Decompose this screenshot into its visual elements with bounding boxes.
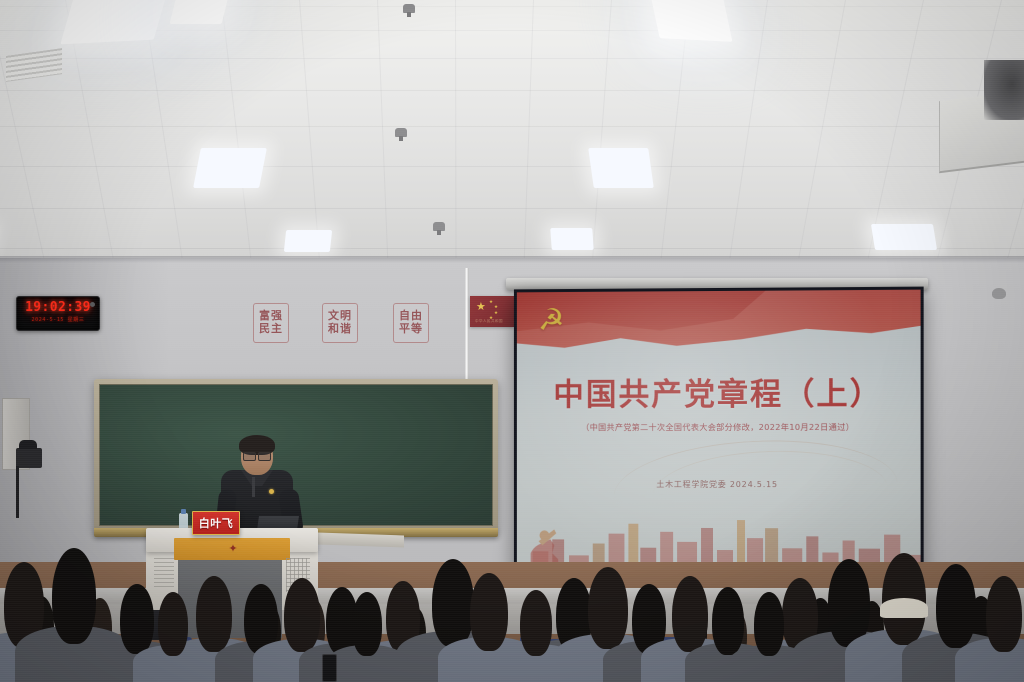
clock-indicator-led bbox=[90, 302, 95, 307]
clock-time: 19:02:39 bbox=[17, 300, 99, 315]
audience-head bbox=[52, 548, 96, 644]
sprinkler-nozzle-icon bbox=[395, 128, 407, 137]
ceiling-grid-line bbox=[0, 166, 1024, 167]
china-national-flag: ★ ★ ★ ★ ★ 中华人民共和国 bbox=[470, 296, 514, 327]
audience-head bbox=[712, 587, 744, 655]
audience-head bbox=[936, 564, 976, 648]
audience-head bbox=[284, 578, 320, 652]
flag-small-star-icon: ★ bbox=[489, 300, 493, 305]
presenter-placket bbox=[252, 477, 255, 497]
audience-head bbox=[470, 573, 508, 651]
audience-head bbox=[672, 576, 708, 652]
wall-telephone bbox=[16, 448, 42, 468]
ceiling-grid-line bbox=[794, 0, 845, 278]
glasses-icon bbox=[243, 452, 271, 459]
slogan-placard-3: 自由 平等 bbox=[393, 303, 429, 343]
suspended-ceiling bbox=[0, 0, 1024, 282]
audience-head bbox=[120, 584, 154, 654]
cpc-hammer-sickle-icon: ☭ bbox=[535, 306, 568, 336]
ceiling-grid-line bbox=[221, 0, 254, 280]
led-wall-clock: 19:02:39 2024-5-15 星期三 bbox=[16, 296, 100, 331]
audience-head bbox=[158, 592, 188, 656]
audience-cap bbox=[880, 598, 928, 618]
audience-head bbox=[754, 592, 784, 656]
placard-line-1: 富强 bbox=[259, 310, 283, 323]
audience-phone bbox=[322, 654, 337, 682]
ceiling-grid-line bbox=[455, 0, 457, 282]
ceiling-grid-line bbox=[0, 0, 48, 276]
slide-subtitle: （中国共产党第二十次全国代表大会部分修改，2022年10月22日通过） bbox=[517, 421, 921, 433]
placard-line-1: 自由 bbox=[399, 310, 423, 323]
slide-title: 中国共产党章程（上） bbox=[517, 378, 921, 411]
ceiling-tile-grid bbox=[0, 0, 1024, 282]
telephone-cord bbox=[16, 466, 19, 518]
audience-head bbox=[986, 576, 1022, 652]
audience-head bbox=[196, 576, 232, 652]
ceiling-cable-bundle bbox=[984, 60, 1024, 120]
audience-head bbox=[352, 592, 382, 656]
slogan-placard-2: 文明 和谐 bbox=[322, 303, 358, 343]
presentation-slide: ☭ 中国共产党章程（上） （中国共产党第二十次全国代表大会部分修改，2022年1… bbox=[517, 290, 921, 606]
school-crest-icon: ✦ bbox=[226, 544, 240, 556]
placard-line-2: 民主 bbox=[259, 323, 283, 336]
audience-head bbox=[432, 559, 474, 647]
placard-line-2: 和谐 bbox=[328, 323, 352, 336]
security-camera bbox=[992, 288, 1006, 299]
ceiling-panel-light bbox=[283, 230, 331, 252]
ceiling-grid-line bbox=[590, 0, 612, 281]
slogan-placard-1: 富强 民主 bbox=[253, 303, 289, 343]
ceiling-panel-light bbox=[588, 148, 654, 188]
ceiling-grid-line bbox=[0, 126, 1024, 127]
pull-down-projection-screen[interactable]: ☭ 中国共产党章程（上） （中国共产党第二十次全国代表大会部分修改，2022年1… bbox=[514, 287, 924, 609]
ceiling-grid-line bbox=[726, 0, 768, 279]
placard-line-2: 平等 bbox=[399, 323, 423, 336]
flag-big-star-icon: ★ bbox=[476, 302, 486, 313]
flag-caption: 中华人民共和国 bbox=[475, 319, 503, 324]
telephone-handset-icon bbox=[19, 440, 37, 449]
sprinkler-nozzle-icon bbox=[433, 222, 445, 231]
ceiling-panel-light bbox=[871, 224, 937, 250]
ceiling-grid-line bbox=[0, 90, 1024, 91]
audience-head bbox=[588, 567, 628, 649]
ceiling-panel-light bbox=[649, 0, 732, 42]
placard-line-1: 文明 bbox=[328, 310, 352, 323]
flag-small-star-icon: ★ bbox=[494, 311, 498, 316]
party-emblem-pin bbox=[269, 489, 274, 494]
ceiling-grid-line bbox=[377, 0, 389, 282]
ceiling-grid-line bbox=[0, 58, 1024, 59]
ceiling-grid-line bbox=[143, 0, 186, 279]
slide-organization: 土木工程学院党委 2024.5.15 bbox=[517, 479, 921, 491]
audience-head bbox=[520, 590, 552, 656]
ceiling-grid-line bbox=[0, 208, 1024, 209]
ceiling-panel-light bbox=[193, 148, 267, 188]
seated-students bbox=[0, 562, 1024, 682]
podium-nameplate: 白叶飞 bbox=[192, 511, 240, 535]
flag-small-star-icon: ★ bbox=[494, 305, 498, 310]
ceiling-grid-line bbox=[658, 0, 690, 280]
sprinkler-nozzle-icon bbox=[403, 4, 415, 13]
ceiling-panel-light bbox=[550, 228, 594, 250]
ceiling-grid-line bbox=[523, 0, 534, 282]
ceiling-panel-light bbox=[60, 0, 169, 44]
audience-head bbox=[828, 559, 870, 647]
clock-date: 2024-5-15 星期三 bbox=[17, 316, 99, 323]
lecture-hall-photo: 19:02:39 2024-5-15 星期三 富强 民主 文明 和谐 自由 平等… bbox=[0, 0, 1024, 682]
